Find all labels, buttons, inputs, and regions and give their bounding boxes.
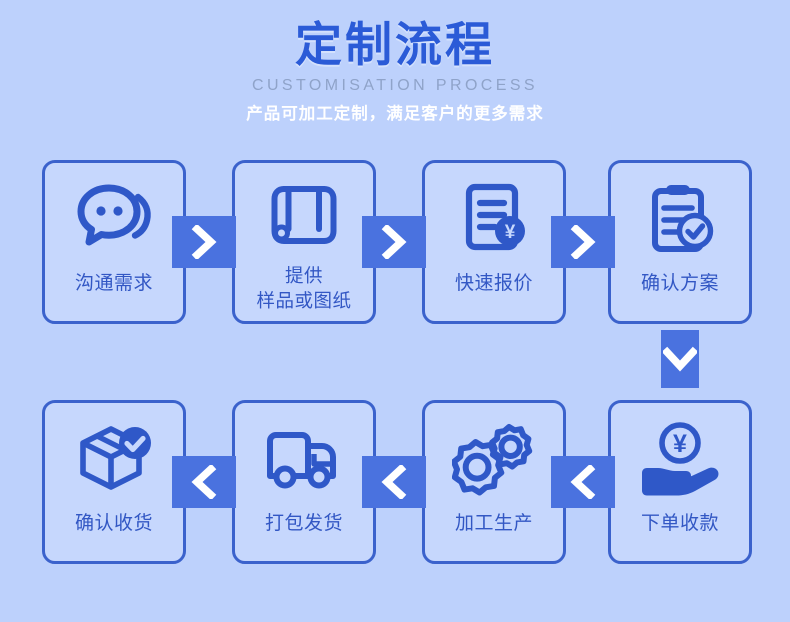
connector-step4-to-step5 [661, 330, 699, 388]
customisation-process-infographic: 定制流程 CUSTOMISATION PROCESS 产品可加工定制，满足客户的… [0, 0, 790, 622]
gears-icon [452, 420, 536, 498]
step-card-label: 提供 样品或图纸 [235, 263, 373, 313]
step-card-label: 下单收款 [611, 511, 749, 536]
header: 定制流程 CUSTOMISATION PROCESS 产品可加工定制，满足客户的… [0, 0, 790, 125]
connector-step3-to-step4 [551, 216, 615, 268]
delivery-truck-icon [262, 424, 346, 494]
step-card-label: 沟通需求 [45, 271, 183, 296]
chat-bubble-icon [75, 182, 153, 256]
chevron-right-icon [570, 225, 596, 259]
svg-text:¥: ¥ [505, 222, 516, 243]
icon-container [235, 163, 373, 263]
chevron-right-icon [191, 225, 217, 259]
step-card-2-provide-sample-or-drawing[interactable]: 提供 样品或图纸 [232, 160, 376, 324]
chevron-down-icon [663, 346, 697, 372]
connector-step7-to-step8 [172, 456, 236, 508]
chevron-left-icon [570, 465, 596, 499]
step-card-3-fast-quotation[interactable]: ¥ 快速报价 [422, 160, 566, 324]
step-card-4-confirm-plan[interactable]: 确认方案 [608, 160, 752, 324]
blueprint-scroll-icon [266, 179, 342, 251]
connector-step6-to-step7 [362, 456, 426, 508]
box-check-icon [73, 421, 155, 497]
step-card-8-confirm-receipt[interactable]: 确认收货 [42, 400, 186, 564]
subtitle-chinese: 产品可加工定制，满足客户的更多需求 [0, 103, 790, 125]
step-card-6-processing-production[interactable]: 加工生产 [422, 400, 566, 564]
step-card-1-communicate-requirements[interactable]: 沟通需求 [42, 160, 186, 324]
step-card-label: 确认方案 [611, 271, 749, 296]
icon-container: ¥ [425, 163, 563, 271]
step-card-label: 快速报价 [425, 271, 563, 296]
icon-container [611, 163, 749, 271]
connector-step5-to-step6 [551, 456, 615, 508]
step-card-5-place-order-and-payment[interactable]: ¥ 下单收款 [608, 400, 752, 564]
hand-yen-coin-icon: ¥ [638, 421, 722, 497]
page-title: 定制流程 [0, 0, 790, 72]
connector-step2-to-step3 [362, 216, 426, 268]
step-card-7-pack-and-ship[interactable]: 打包发货 [232, 400, 376, 564]
icon-container [425, 403, 563, 511]
svg-text:¥: ¥ [673, 430, 687, 458]
icon-container: ¥ [611, 403, 749, 511]
step-card-label: 加工生产 [425, 511, 563, 536]
chevron-left-icon [191, 465, 217, 499]
chevron-right-icon [381, 225, 407, 259]
subtitle-english: CUSTOMISATION PROCESS [0, 76, 790, 96]
clipboard-check-icon [642, 181, 718, 257]
step-card-label: 打包发货 [235, 511, 373, 536]
chevron-left-icon [381, 465, 407, 499]
quote-document-yen-icon: ¥ [457, 181, 531, 257]
icon-container [45, 163, 183, 271]
connector-step1-to-step2 [172, 216, 236, 268]
icon-container [235, 403, 373, 511]
step-card-label: 确认收货 [45, 511, 183, 536]
icon-container [45, 403, 183, 511]
